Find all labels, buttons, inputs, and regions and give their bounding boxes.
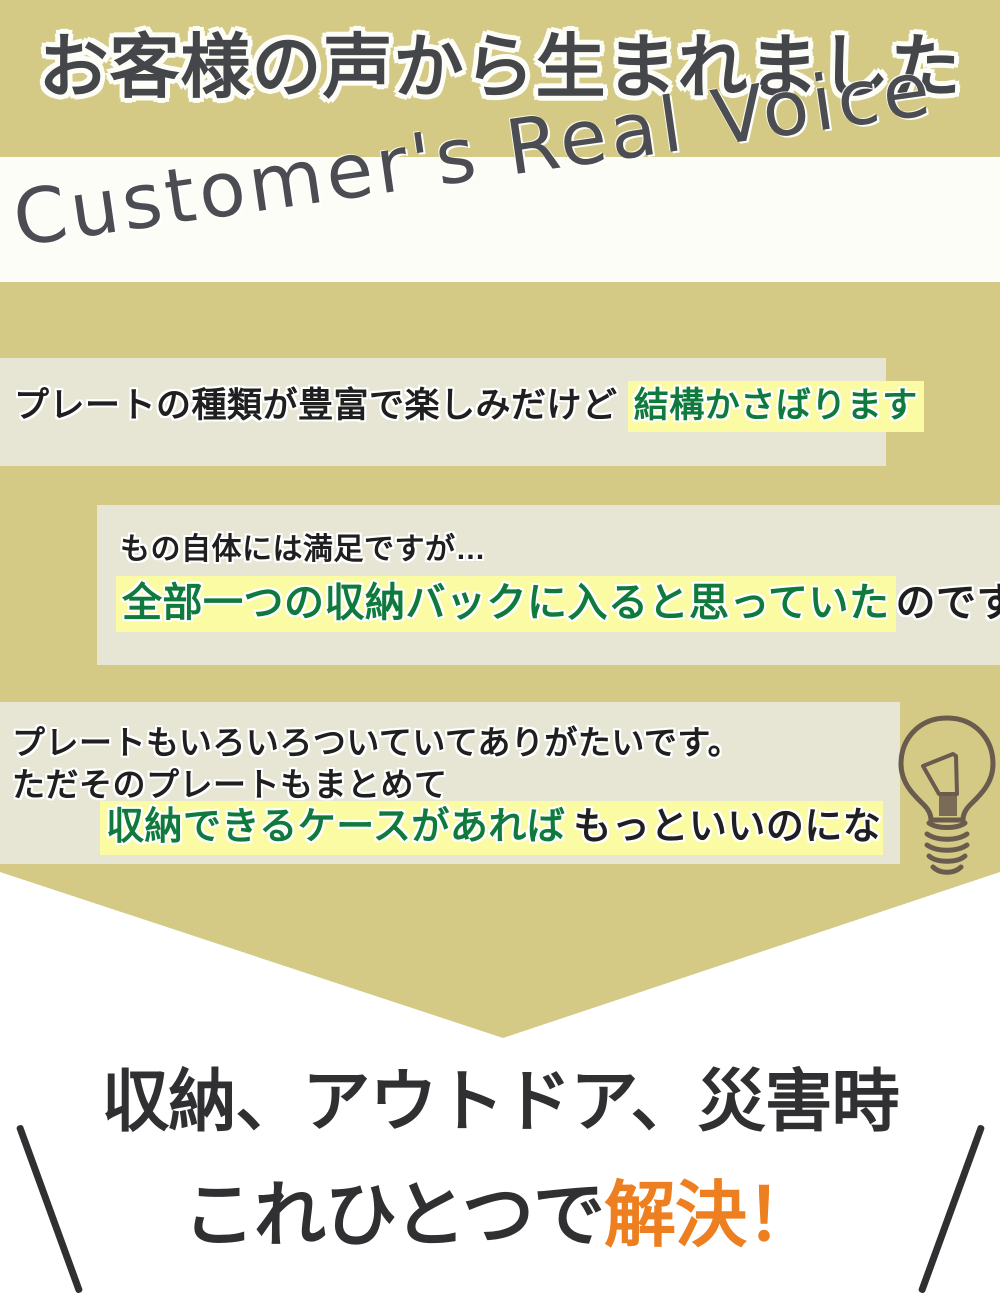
promo-page: お客様の声から生まれました Customer's Real Voice プレート…	[0, 0, 1000, 1300]
testimonial-1-highlight-1: 結構かさばります	[628, 381, 924, 432]
conclusion-block: 収納、アウトドア、災害時 これひとつで解決！	[0, 1050, 1000, 1300]
testimonial-3-plain-1: プレートもいろいろついていてありがたいです。	[12, 724, 741, 761]
conclusion-line-2-prefix: これひとつで	[183, 1176, 604, 1256]
script-title-band: Customer's Real Voice	[0, 157, 1000, 282]
testimonial-3-line-1: プレートもいろいろついていてありがたいです。	[12, 726, 741, 759]
testimonial-3-highlight-1: 収納できるケースがあれば	[100, 801, 571, 855]
conclusion-line-1: 収納、アウトドア、災害時	[0, 1068, 1000, 1136]
testimonial-1-line-1: プレートの種類が豊富で楽しみだけど 結構かさばります	[14, 388, 924, 423]
testimonial-2-highlight-1: 全部一つの収納バックに入ると思っていた	[116, 576, 896, 632]
testimonial-2-line-2: 全部一つの収納バックに入ると思っていたのですが	[116, 583, 1000, 623]
testimonial-3-highlight-2: もっといいのにな	[571, 801, 883, 855]
testimonial-2-plain-2: のですが	[896, 581, 1000, 625]
testimonial-2-plain-1: もの自体には満足ですが…	[120, 533, 486, 566]
conclusion-line-2-accent: 解決！	[604, 1176, 817, 1256]
testimonial-2-line-1: もの自体には満足ですが…	[120, 535, 486, 565]
lightbulb-icon	[893, 712, 1000, 884]
testimonial-3-plain-2: ただそのプレートもまとめて	[12, 766, 448, 803]
testimonial-3-line-2: ただそのプレートもまとめて	[12, 768, 448, 801]
testimonial-3-line-3: 収納できるケースがあればもっといいのにな	[100, 808, 883, 846]
testimonial-1-plain-1: プレートの種類が豊富で楽しみだけど	[14, 386, 628, 425]
conclusion-line-2: これひとつで解決！	[0, 1180, 1000, 1252]
